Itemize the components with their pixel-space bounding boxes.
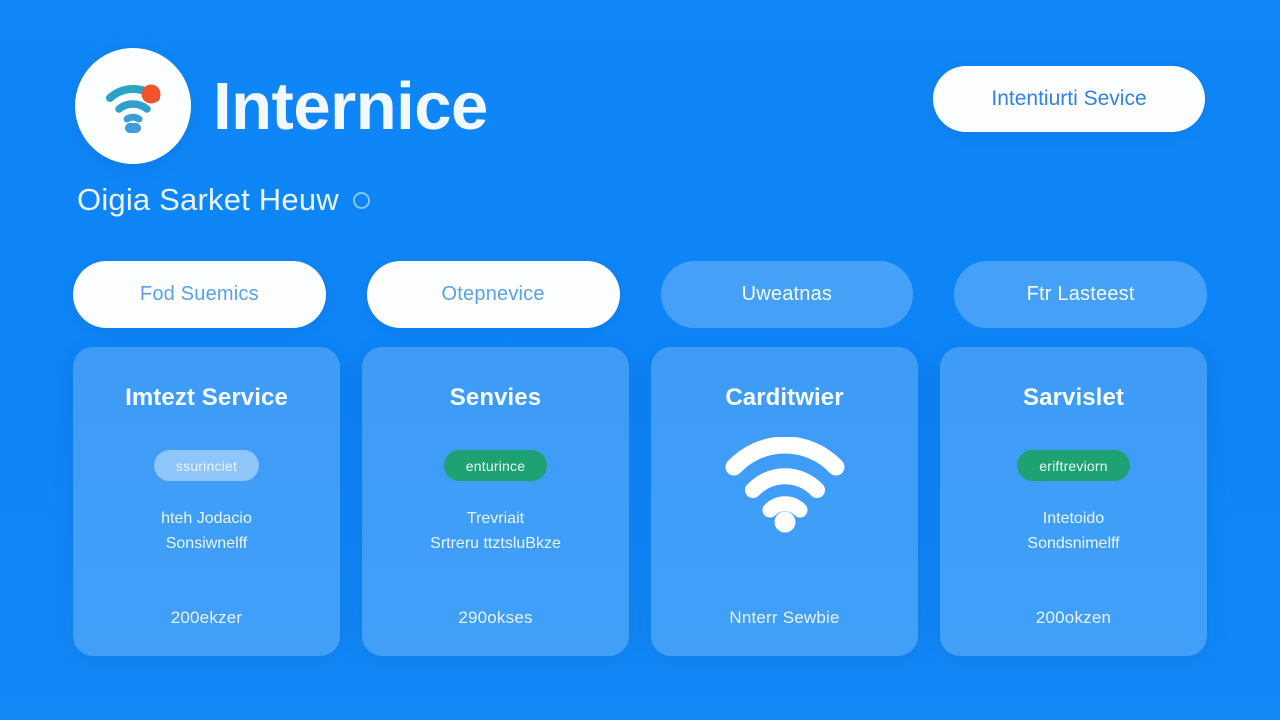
card-footer: 200ekzer: [171, 608, 243, 628]
card-footer: Nnterr Sewbie: [729, 608, 839, 628]
circle-outline-icon: [353, 192, 370, 209]
card-body-line: Trevriait: [430, 507, 561, 532]
card-body-line: Sondsnimelff: [1027, 532, 1119, 557]
wifi-signal-icon: [724, 437, 846, 538]
status-badge: eriftreviorn: [1017, 450, 1130, 481]
card-body-line: Intetoido: [1027, 507, 1119, 532]
tab-otepnevice[interactable]: Otepnevice: [367, 261, 620, 328]
card-title: Carditwier: [725, 385, 843, 411]
tab-fod-suemics[interactable]: Fod Suemics: [73, 261, 326, 328]
card-sarvislet[interactable]: Sarvislet eriftreviorn Intetoido Sondsni…: [940, 347, 1207, 656]
page-title: Internice: [213, 73, 488, 140]
status-badge: enturince: [444, 450, 547, 481]
app-header: Internice: [75, 48, 488, 164]
card-carditwier[interactable]: Carditwier Nnterr Sewbie: [651, 347, 918, 656]
page-subtitle: Oigia Sarket Heuw: [77, 182, 339, 218]
card-media: [724, 437, 846, 538]
tab-bar: Fod Suemics Otepnevice Uweatnas Ftr Last…: [73, 261, 1207, 328]
card-footer: 290okses: [458, 608, 532, 628]
subtitle-row: Oigia Sarket Heuw: [77, 182, 370, 218]
card-body-line: Srtreru ttztsluBkze: [430, 532, 561, 557]
card-body-line: Sonsiwnelff: [161, 532, 252, 557]
tab-uweatnas[interactable]: Uweatnas: [661, 261, 914, 328]
card-body: Intetoido Sondsnimelff: [1027, 507, 1119, 557]
card-body: Trevriait Srtreru ttztsluBkze: [430, 507, 561, 557]
card-title: Senvies: [450, 385, 541, 411]
brand-logo: [75, 48, 191, 164]
card-footer: 200okzen: [1036, 608, 1111, 628]
card-senvies[interactable]: Senvies enturince Trevriait Srtreru ttzt…: [362, 347, 629, 656]
card-grid: Imtezt Service ssurinciet hteh Jodacio S…: [73, 347, 1207, 656]
card-body: hteh Jodacio Sonsiwnelff: [161, 507, 252, 557]
tab-ftr-lasteest[interactable]: Ftr Lasteest: [954, 261, 1207, 328]
wifi-signal-icon: [102, 77, 164, 135]
service-button[interactable]: Intentiurti Sevice: [933, 66, 1205, 132]
card-title: Imtezt Service: [125, 385, 288, 411]
card-imtezt-service[interactable]: Imtezt Service ssurinciet hteh Jodacio S…: [73, 347, 340, 656]
app-screen: Internice Oigia Sarket Heuw Intentiurti …: [0, 0, 1280, 720]
card-title: Sarvislet: [1023, 385, 1124, 411]
status-badge: ssurinciet: [154, 450, 259, 481]
card-body-line: hteh Jodacio: [161, 507, 252, 532]
